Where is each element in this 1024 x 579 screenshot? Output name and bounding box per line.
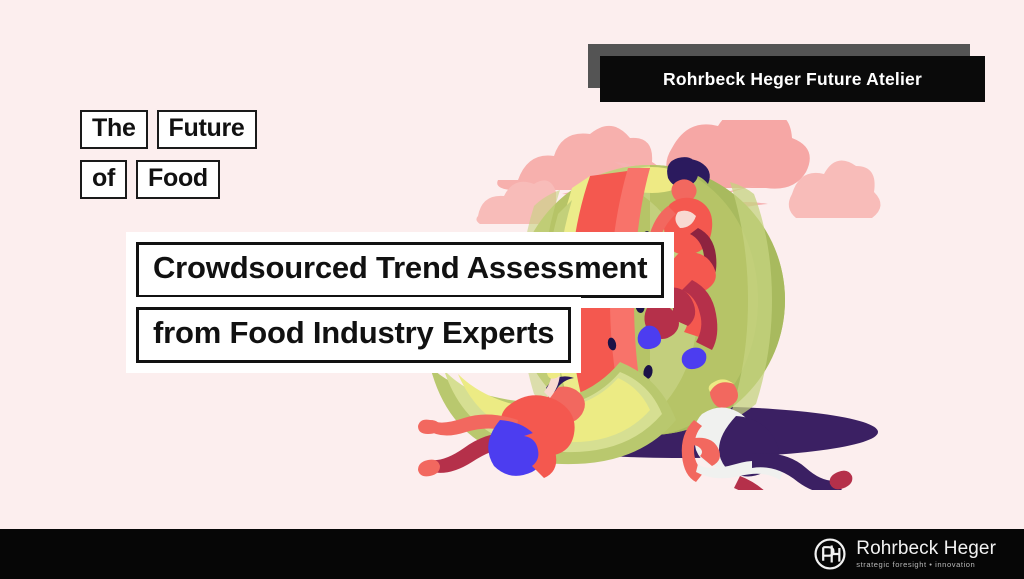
slide-canvas: Rohrbeck Heger Future Atelier The Future… xyxy=(0,0,1024,579)
footer-logo: Rohrbeck Heger strategic foresight • inn… xyxy=(813,537,996,571)
kicker-word-future: Future xyxy=(157,110,257,149)
headline-line-1: Crowdsourced Trend Assessment xyxy=(136,242,664,298)
kicker-word-of: of xyxy=(80,160,127,199)
logo-tagline: strategic foresight • innovation xyxy=(856,561,996,569)
watermelon-illustration xyxy=(400,120,940,490)
logo-wordmark: Rohrbeck Heger strategic foresight • inn… xyxy=(856,539,996,569)
kicker-word-food: Food xyxy=(136,160,220,199)
banner-bar: Rohrbeck Heger Future Atelier xyxy=(600,56,985,102)
kicker-group: The Future of Food xyxy=(80,110,380,210)
kicker-word-the: The xyxy=(80,110,148,149)
headline-box-1: Crowdsourced Trend Assessment xyxy=(136,242,664,298)
kicker-row: of Food xyxy=(80,160,380,199)
headline-box-2: from Food Industry Experts xyxy=(136,307,571,363)
headline-line-2: from Food Industry Experts xyxy=(136,307,571,363)
logo-name: Rohrbeck Heger xyxy=(856,539,996,558)
banner-label: Rohrbeck Heger Future Atelier xyxy=(663,69,922,90)
rohrbeck-heger-logo-icon xyxy=(813,537,847,571)
kicker-row: The Future xyxy=(80,110,380,149)
